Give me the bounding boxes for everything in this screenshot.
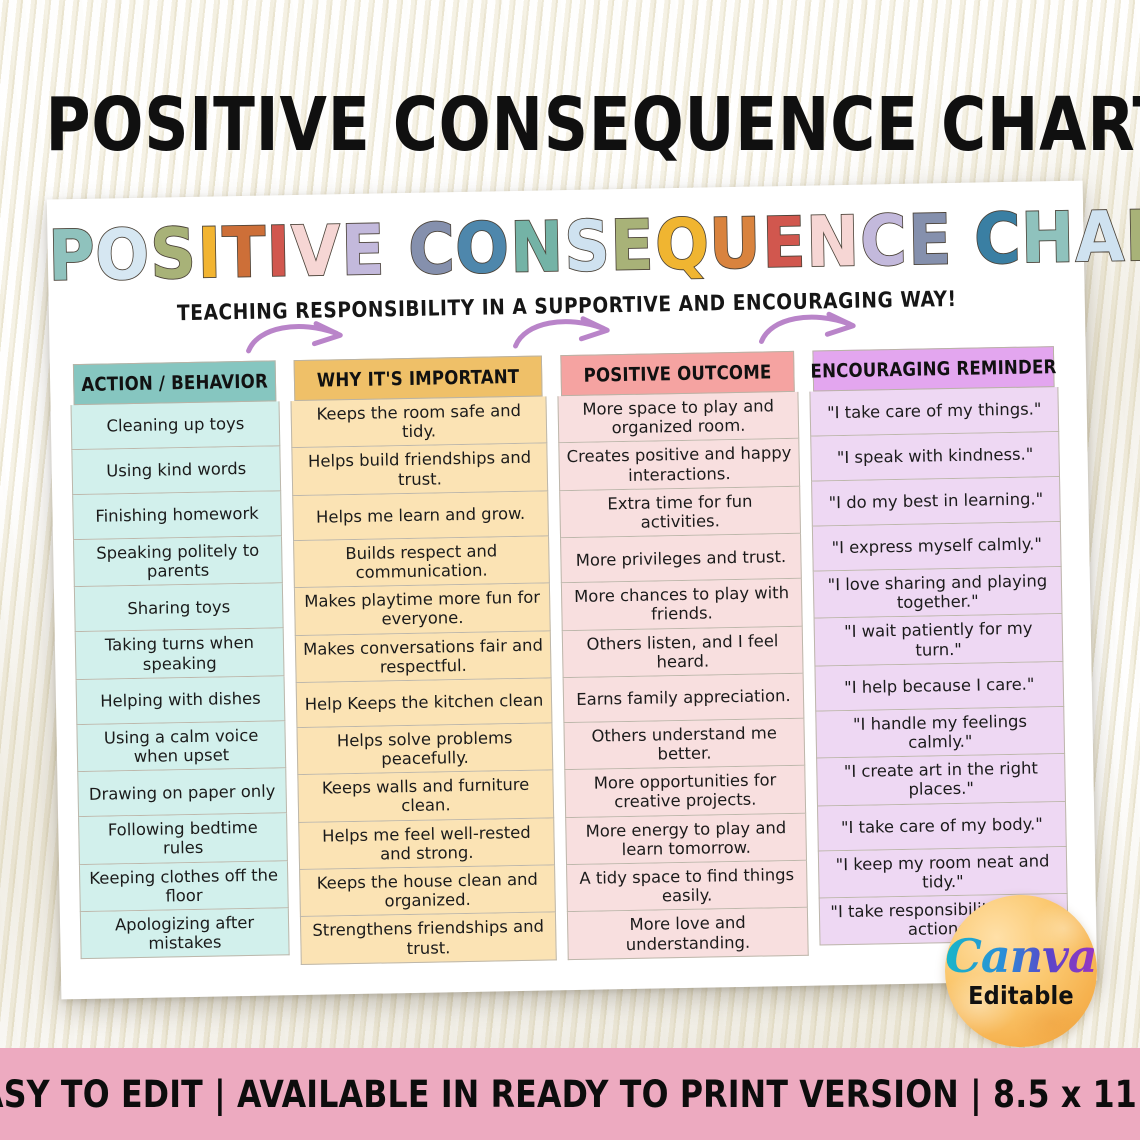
top-banner-title: POSITIVE CONSEQUENCE CHART — [46, 82, 1095, 168]
curved-arrow-icon-1 — [244, 319, 355, 355]
headline-letter: T — [222, 218, 266, 288]
headline-letter: E — [907, 205, 951, 275]
table-cell: Extra time for fun activities. — [559, 487, 801, 539]
table-cell: Others listen, and I feel heard. — [562, 626, 804, 678]
table-cell: Helps solve problems peacefully. — [296, 723, 553, 775]
headline-letter: I — [197, 219, 222, 289]
table-cell: "I do my best in learning." — [811, 477, 1061, 527]
headline-letter: E — [610, 211, 654, 281]
table-cell: Keeps walls and furniture clean. — [297, 771, 554, 823]
consequence-table: ACTION / BEHAVIOR Cleaning up toysUsing … — [70, 346, 1077, 969]
table-cell: Helps build friendships and trust. — [291, 444, 548, 496]
curved-arrow-icon-2 — [511, 314, 622, 350]
headline-letter: C — [860, 206, 908, 276]
table-cell: Earns family appreciation. — [563, 674, 805, 723]
table-cell: Apologizing after mistakes — [80, 908, 290, 959]
table-cell: Makes playtime more fun for everyone. — [294, 584, 551, 636]
headline-letter: A — [1075, 202, 1125, 272]
table-cell: Keeping clothes off the floor — [79, 861, 289, 912]
bottom-banner: EASY TO EDIT | AVAILABLE IN READY TO PRI… — [0, 1048, 1140, 1140]
table-cell: Help Keeps the kitchen clean — [296, 678, 553, 728]
headline-letter: I — [266, 217, 291, 287]
column-cells-encouraging-reminder: "I take care of my things.""I speak with… — [809, 387, 1068, 946]
table-cell: Keeps the house clean and organized. — [299, 865, 556, 917]
headline-letter: E — [341, 216, 385, 286]
canva-editable-badge: Canva Editable — [945, 895, 1097, 1047]
table-cell: Helping with dishes — [76, 676, 286, 725]
headline-letter: V — [291, 216, 341, 286]
headline-letter: N — [806, 207, 860, 277]
headline-letter: C — [407, 214, 455, 284]
column-header-action-behavior: ACTION / BEHAVIOR — [73, 360, 276, 405]
table-cell: Drawing on paper only — [77, 768, 287, 817]
headline-letter: S — [563, 212, 610, 282]
table-cell: Sharing toys — [74, 584, 284, 633]
poster-page: POSITIVE CONSEQUENCE CHART POSITIVECONSE… — [0, 0, 1140, 1140]
table-cell: More love and understanding. — [567, 908, 809, 960]
curved-arrow-icon-3 — [757, 310, 868, 346]
headline-letter: E — [761, 208, 805, 278]
column-cells-positive-outcome: More space to play and organized room.Cr… — [557, 392, 808, 960]
table-cell: Helps me learn and grow. — [292, 491, 549, 541]
headline-letter: R — [1125, 201, 1140, 271]
headline-letter: S — [150, 219, 197, 289]
table-cell: "I wait patiently for my turn." — [814, 614, 1064, 666]
table-cell: Helps me feel well-rested and strong. — [298, 818, 555, 870]
table-cell: Strengthens friendships and trust. — [300, 913, 557, 965]
table-cell: Creates positive and happy interactions. — [558, 439, 800, 491]
canva-editable-label: Editable — [968, 981, 1074, 1010]
table-cell: Using kind words — [71, 446, 281, 495]
table-cell: Cleaning up toys — [71, 401, 281, 450]
table-cell: "I keep my room neat and tidy." — [818, 846, 1068, 898]
table-cell: More energy to play and learn tomorrow. — [565, 813, 807, 865]
table-cell: "I take care of my things." — [809, 387, 1059, 437]
table-cell: Finishing homework — [72, 491, 282, 540]
table-cell: Speaking politely to parents — [73, 536, 283, 587]
table-cell: "I help because I care." — [814, 662, 1064, 712]
table-column-action-behavior: ACTION / BEHAVIOR Cleaning up toysUsing … — [70, 360, 290, 959]
table-cell: More chances to play with friends. — [561, 579, 803, 631]
table-cell: Taking turns when speaking — [75, 629, 285, 680]
table-cell: More opportunities for creative projects… — [564, 766, 806, 818]
headline-letter: U — [709, 209, 762, 279]
table-column-positive-outcome: POSITIVE OUTCOME More space to play and … — [557, 351, 809, 960]
column-header-why-important: WHY IT'S IMPORTANT — [294, 356, 543, 402]
table-cell: More space to play and organized room. — [557, 392, 799, 444]
headline-letter: Q — [654, 210, 709, 280]
headline-letter: O — [95, 220, 150, 290]
table-cell: "I express myself calmly." — [812, 522, 1062, 572]
headline-letter: P — [48, 221, 96, 291]
column-header-positive-outcome: POSITIVE OUTCOME — [560, 351, 794, 396]
table-cell: "I create art in the right places." — [816, 754, 1066, 806]
headline-letter: H — [1021, 203, 1075, 273]
table-cell: "I love sharing and playing together." — [813, 567, 1063, 619]
table-cell: Makes conversations fair and respectful. — [295, 631, 552, 683]
canva-wordmark: Canva — [945, 933, 1096, 979]
table-cell: "I handle my feelings calmly." — [815, 707, 1065, 759]
table-cell: Using a calm voice when upset — [76, 721, 286, 772]
table-cell: Keeps the room safe and tidy. — [290, 396, 547, 448]
table-cell: Others understand me better. — [563, 719, 805, 771]
table-cell: "I take care of my body." — [817, 801, 1067, 851]
headline-letter: C — [974, 204, 1022, 274]
table-cell: Builds respect and communication. — [293, 536, 550, 588]
table-cell: More privileges and trust. — [560, 534, 802, 583]
bottom-banner-text: EASY TO EDIT | AVAILABLE IN READY TO PRI… — [0, 1073, 1140, 1116]
headline-letter: N — [509, 212, 563, 282]
column-header-encouraging-reminder: ENCOURAGING REMINDER — [812, 346, 1054, 391]
table-cell: A tidy space to find things easily. — [566, 861, 808, 913]
column-cells-why-important: Keeps the room safe and tidy.Helps build… — [290, 396, 556, 964]
printable-sheet: POSITIVECONSEQUENCECHART TEACHING RESPON… — [47, 181, 1097, 1000]
table-column-why-important: WHY IT'S IMPORTANT Keeps the room safe a… — [290, 355, 557, 964]
table-cell: Following bedtime rules — [78, 813, 288, 864]
headline-letter: O — [455, 213, 510, 283]
table-cell: "I speak with kindness." — [810, 432, 1060, 482]
column-cells-action-behavior: Cleaning up toysUsing kind wordsFinishin… — [71, 401, 290, 959]
poster-headline: POSITIVECONSEQUENCECHART — [47, 207, 1084, 288]
table-column-encouraging-reminder: ENCOURAGING REMINDER "I take care of my … — [809, 346, 1069, 946]
